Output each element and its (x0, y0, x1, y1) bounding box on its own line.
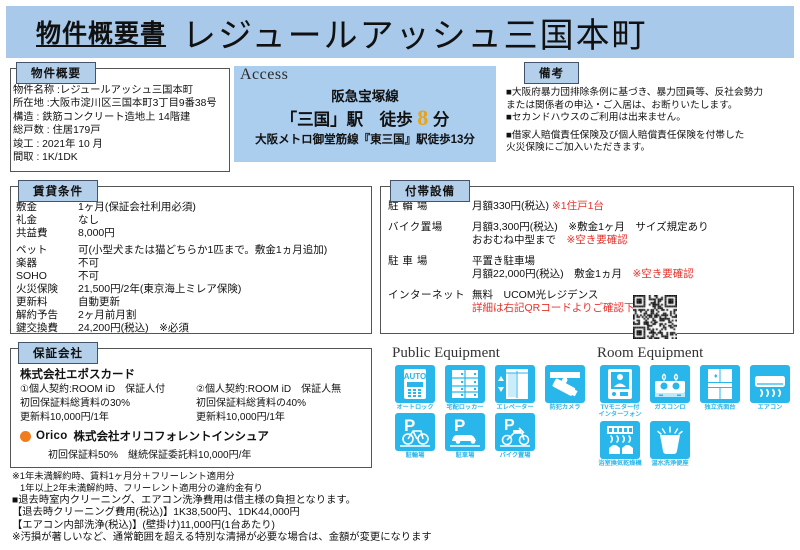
orico-row: Orico 株式会社オリコフォレントインシュア (20, 428, 269, 444)
guarantor-plan-line: 初回保証料総賃料の40% (196, 397, 371, 411)
facility-value-bike: 月額3,300円(税込) ※敷金1ヶ月 サイズ規定あり おおむね中型まで ※空き… (472, 221, 794, 248)
tv-monitor-intercom-icon (600, 365, 640, 403)
rent-row-key: SOHO (16, 270, 78, 283)
equipment-item: AUTOオートロック (390, 365, 440, 411)
equipment-item: 宅配ロッカー (440, 365, 490, 411)
washstand-icon: ♦ (700, 365, 740, 403)
rent-row: 鍵交換費24,200円(税込) ※必須 (16, 322, 372, 335)
facility-row-internet: インターネット 無料 UCOM光レジデンス 詳細は右記QRコードよりご確認下さい… (388, 289, 794, 316)
room-equipment-heading: Room Equipment (597, 345, 703, 362)
rent-row-value: 8,000円 (78, 227, 372, 240)
bicycle-parking-icon: P (395, 413, 435, 451)
overview-row: 所在地 :大阪市淀川区三国本町3丁目9番38号 (13, 97, 235, 110)
rent-row: 楽器不可 (16, 257, 372, 270)
equipment-item: 浴室換気乾燥機 (595, 421, 645, 467)
guarantor-plan-line: 更新料10,000円/1年 (196, 411, 371, 425)
facility-bicycle-note: ※1住戸1台 (552, 200, 604, 212)
equipment-label: ガスコンロ (645, 404, 695, 411)
header-banner: 物件概要書 レジュールアッシュ三国本町 (6, 6, 794, 58)
auto-lock-icon: AUTO (395, 365, 435, 403)
gas-stove-icon (650, 365, 690, 403)
rent-row-value: 1ヶ月(保証会社利用必須) (78, 201, 372, 214)
page-title: レジュールアッシュ三国本町 (182, 8, 648, 57)
overview-row: 間取 : 1K/1DK (13, 151, 235, 164)
rent-row: 礼金なし (16, 214, 372, 227)
guarantor-plan-1: ①個人契約:ROOM iD 保証人付初回保証料総賃料の30%更新料10,000円… (20, 383, 190, 425)
facility-key-bike: バイク置場 (388, 221, 472, 248)
equipment-item: 温水洗浄便座 (645, 421, 695, 467)
public-equipment-grid: AUTOオートロック宅配ロッカーエレベーター防犯カメラP駐輪場P駐車場Pバイク置… (390, 365, 590, 462)
footnote-line: 1年以上2年未満解約時、フリーレント適用分の違約金有り (12, 482, 432, 494)
facility-value-car: 平置き駐車場 月額22,000円(税込) 敷金1ヵ月 ※空き要確認 (472, 255, 794, 282)
equipment-item: エレベーター (490, 365, 540, 411)
facility-bike-price: 月額3,300円(税込) ※敷金1ヶ月 サイズ規定あり (472, 221, 794, 235)
guarantor-company-name: 株式会社エポスカード (20, 366, 135, 382)
facilities-tag: 付帯設備 (390, 180, 470, 202)
motorbike-parking-icon: P (495, 413, 535, 451)
elevator-icon (495, 365, 535, 403)
rent-row-value: 24,200円(税込) ※必須 (78, 322, 372, 335)
guarantor-plan-line: 初回保証料総賃料の30% (20, 397, 190, 411)
access-minutes-unit: 分 (433, 111, 450, 129)
footnote-line: 【エアコン内部洗浄(税込)】(壁掛け)11,000円(1台あたり) (12, 520, 432, 532)
orico-terms: 初回保証料50% 継続保証委託料10,000円/年 (48, 446, 251, 461)
equipment-item: Pバイク置場 (490, 413, 540, 459)
footnote-line: ■退去時室内クリーニング、エアコン洗浄費用は借主様の負担となります。 (12, 495, 432, 507)
equipment-label: オートロック (390, 404, 440, 411)
overview-row: 竣工 : 2021年 10 月 (13, 138, 235, 151)
remark-line: 火災保険にご加入いただきます。 (506, 142, 798, 155)
facility-bike-line2: おおむね中型まで ※空き要確認 (472, 234, 794, 248)
footnote-line: ※1年未満解約時、賃料1ヶ月分＋フリーレント適用分 (12, 470, 432, 482)
rent-row: 共益費8,000円 (16, 227, 372, 240)
property-summary-page: 物件概要書 レジュールアッシュ三国本町 物件概要 物件名称 :レジュールアッシュ… (0, 0, 800, 550)
svg-text:♦: ♦ (714, 372, 718, 380)
access-walk-time: 「三国」駅 徒歩 8 分 (234, 105, 496, 131)
rent-row-value: 不可 (78, 270, 372, 283)
rent-row: 火災保険21,500円/2年(東京海上ミレア保険) (16, 283, 372, 296)
remarks-tag: 備考 (524, 62, 579, 84)
guarantor-plan-line: ①個人契約:ROOM iD 保証人付 (20, 383, 190, 397)
rent-row: SOHO不可 (16, 270, 372, 283)
document-type-label: 物件概要書 (36, 14, 166, 50)
equipment-item: エアコン (745, 365, 795, 419)
remark-line: または関係者の申込・ご入居は、お断りいたします。 (506, 100, 798, 113)
equipment-label: 宅配ロッカー (440, 404, 490, 411)
facility-value-bicycle: 月額330円(税込) ※1住戸1台 (472, 200, 794, 214)
equipment-item: ガスコンロ (645, 365, 695, 419)
equipment-item: TVモニター付 インターフォン (595, 365, 645, 419)
facility-key-car: 駐 車 場 (388, 255, 472, 282)
equipment-item: P駐輪場 (390, 413, 440, 459)
rent-row-key: ペット (16, 244, 78, 257)
rent-row-value: 可(小型犬または猫どちらか1匹まで。敷金1ヵ月追加) (78, 244, 372, 257)
facility-bicycle-price: 月額330円(税込) (472, 200, 549, 212)
facility-key-bicycle: 駐 輪 場 (388, 200, 472, 214)
svg-text:AUTO: AUTO (404, 372, 427, 381)
equipment-item: 防犯カメラ (540, 365, 590, 411)
washlet-icon (650, 421, 690, 459)
guarantor-plan-line: 更新料10,000円/1年 (20, 411, 190, 425)
room-equipment-grid: TVモニター付 インターフォンガスコンロ♦独立洗面台エアコン浴室換気乾燥機温水洗… (595, 365, 795, 469)
delivery-locker-icon (445, 365, 485, 403)
qr-code-icon[interactable] (633, 295, 677, 339)
equipment-item: ♦独立洗面台 (695, 365, 745, 419)
rent-row: 解約予告2ヶ月前月割 (16, 309, 372, 322)
rent-row-value: 21,500円/2年(東京海上ミレア保険) (78, 283, 372, 296)
remark-line: ■セカンドハウスのご利用は出来ません。 (506, 112, 798, 125)
equipment-label: 駐車場 (440, 452, 490, 459)
remark-line: ■借家人賠償責任保険及び個人賠償責任保険を付帯した (506, 130, 798, 143)
rent-row-key: 楽器 (16, 257, 78, 270)
svg-text:P: P (454, 416, 465, 435)
equipment-label: TVモニター付 インターフォン (595, 404, 645, 419)
footnote-line: 【退去時クリーニング費用(税込)】1K38,500円、1DK44,000円 (12, 507, 432, 519)
facility-bike-size: おおむね中型まで (472, 234, 567, 246)
public-equipment-heading: Public Equipment (392, 345, 500, 362)
guarantor-plan-line: ②個人契約:ROOM iD 保証人無 (196, 383, 371, 397)
equipment-item: P駐車場 (440, 413, 490, 459)
equipment-label: 浴室換気乾燥機 (595, 460, 645, 467)
equipment-label: エレベーター (490, 404, 540, 411)
facility-row-bike: バイク置場 月額3,300円(税込) ※敷金1ヶ月 サイズ規定あり おおむね中型… (388, 221, 794, 248)
rent-row-value: 自動更新 (78, 296, 372, 309)
access-secondary-station: 大阪メトロ御堂筋線『東三国』駅徒歩13分 (234, 131, 496, 147)
orico-dot-icon (20, 431, 31, 442)
rent-row-key: 更新料 (16, 296, 78, 309)
rent-row-key: 共益費 (16, 227, 78, 240)
equipment-label: 独立洗面台 (695, 404, 745, 411)
air-conditioner-icon (750, 365, 790, 403)
facility-row-car: 駐 車 場 平置き駐車場 月額22,000円(税込) 敷金1ヵ月 ※空き要確認 (388, 255, 794, 282)
facility-car-note: ※空き要確認 (632, 268, 693, 280)
overview-row: 物件名称 :レジュールアッシュ三国本町 (13, 84, 235, 97)
equipment-label: バイク置場 (490, 452, 540, 459)
rent-row-key: 解約予告 (16, 309, 78, 322)
access-minutes: 8 (417, 105, 428, 130)
overview-row: 総戸数 : 住居179戸 (13, 124, 235, 137)
facility-car-line2: 月額22,000円(税込) 敷金1ヵ月 ※空き要確認 (472, 268, 794, 282)
rent-row-key: 火災保険 (16, 283, 78, 296)
access-label: Access (240, 66, 288, 84)
overview-row: 構造 : 鉄筋コンクリート造地上 14階建 (13, 111, 235, 124)
rent-row-value: 不可 (78, 257, 372, 270)
access-train-line: 阪急宝塚線 (234, 85, 496, 105)
rent-row-key: 鍵交換費 (16, 322, 78, 335)
equipment-label: エアコン (745, 404, 795, 411)
guarantor-tag: 保証会社 (18, 342, 98, 364)
footnote-line: ※汚損が著しいなど、通常範囲を超える特別な清掃が必要な場合は、金額が変更になりま… (12, 532, 432, 544)
facility-car-type: 平置き駐車場 (472, 255, 794, 269)
guarantor-plan-2: ②個人契約:ROOM iD 保証人無初回保証料総賃料の40%更新料10,000円… (196, 383, 371, 425)
property-overview-list: 物件名称 :レジュールアッシュ三国本町所在地 :大阪市淀川区三国本町3丁目9番3… (13, 84, 235, 164)
facilities-table: 駐 輪 場 月額330円(税込) ※1住戸1台 バイク置場 月額3,300円(税… (388, 200, 794, 323)
remark-line: ■大阪府暴力団排除条例に基づき、暴力団員等、反社会勢力 (506, 87, 798, 100)
equipment-label: 防犯カメラ (540, 404, 590, 411)
rent-row-key: 礼金 (16, 214, 78, 227)
rent-conditions-table: 敷金1ヶ月(保証会社利用必須)礼金なし共益費8,000円ペット可(小型犬または猫… (16, 201, 372, 335)
equipment-label: 駐輪場 (390, 452, 440, 459)
rent-row: ペット可(小型犬または猫どちらか1匹まで。敷金1ヵ月追加) (16, 244, 372, 257)
facility-row-bicycle: 駐 輪 場 月額330円(税込) ※1住戸1台 (388, 200, 794, 214)
rent-row: 更新料自動更新 (16, 296, 372, 309)
bath-dryer-icon (600, 421, 640, 459)
rent-row: 敷金1ヶ月(保証会社利用必須) (16, 201, 372, 214)
rent-row-value: なし (78, 214, 372, 227)
footnotes-list: ※1年未満解約時、賃料1ヶ月分＋フリーレント適用分1年以上2年未満解約時、フリー… (12, 470, 432, 544)
facility-bike-note: ※空き要確認 (567, 234, 628, 246)
rent-row-value: 2ヶ月前月割 (78, 309, 372, 322)
orico-company-name: 株式会社オリコフォレントインシュア (74, 428, 269, 444)
facility-key-internet: インターネット (388, 289, 472, 316)
rent-conditions-tag: 賃貸条件 (18, 180, 98, 202)
car-parking-icon: P (445, 413, 485, 451)
property-overview-tag: 物件概要 (16, 62, 96, 84)
orico-brand: Orico (36, 430, 68, 442)
remarks-list: ■大阪府暴力団排除条例に基づき、暴力団員等、反社会勢力または関係者の申込・ご入居… (506, 87, 798, 155)
equipment-label: 温水洗浄便座 (645, 460, 695, 467)
rent-row-key: 敷金 (16, 201, 78, 214)
security-camera-icon (545, 365, 585, 403)
facility-car-price: 月額22,000円(税込) 敷金1ヵ月 (472, 268, 632, 280)
access-station: 「三国」駅 徒歩 (281, 111, 413, 129)
